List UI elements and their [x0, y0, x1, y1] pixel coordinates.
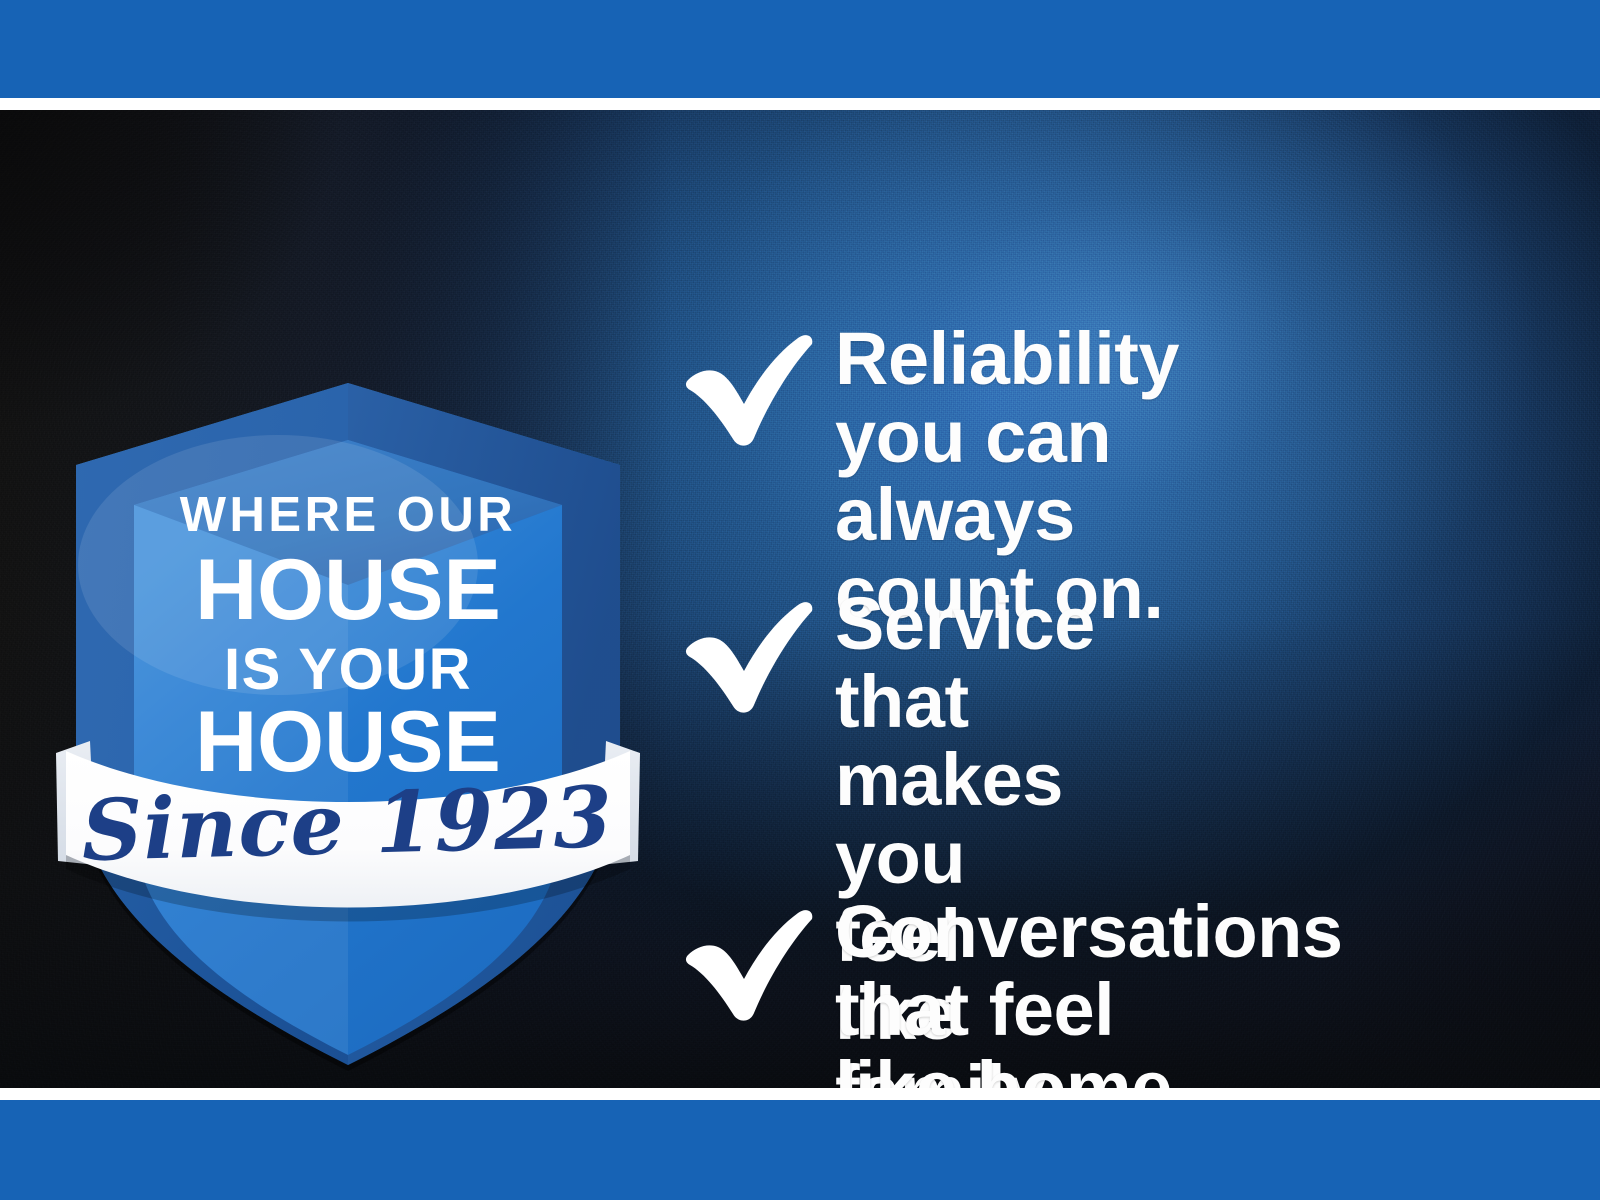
promo-graphic: WHERE OUR HOUSE IS YOUR HOUSE Since 1923: [0, 0, 1600, 1200]
benefits-list: Reliability you can always count on. Ser…: [660, 220, 1580, 1088]
benefit-text-3: Conversations that feel like home.: [835, 893, 1343, 1088]
shield-logo: WHERE OUR HOUSE IS YOUR HOUSE Since 1923: [48, 265, 648, 1075]
shield-line-1: WHERE OUR: [180, 488, 516, 542]
bottom-brand-bar: [0, 1100, 1600, 1200]
ribbon-text: Since 1923: [80, 767, 614, 880]
checkmark-icon: [680, 595, 820, 715]
shield-line-2: HOUSE: [195, 542, 501, 638]
top-brand-bar: [0, 0, 1600, 98]
checkmark-icon: [680, 328, 820, 448]
main-content-panel: WHERE OUR HOUSE IS YOUR HOUSE Since 1923: [0, 110, 1600, 1088]
shield-line-3: IS YOUR: [224, 637, 472, 702]
bottom-white-divider: [0, 1088, 1600, 1100]
checkmark-icon: [680, 903, 820, 1023]
top-white-divider: [0, 98, 1600, 110]
